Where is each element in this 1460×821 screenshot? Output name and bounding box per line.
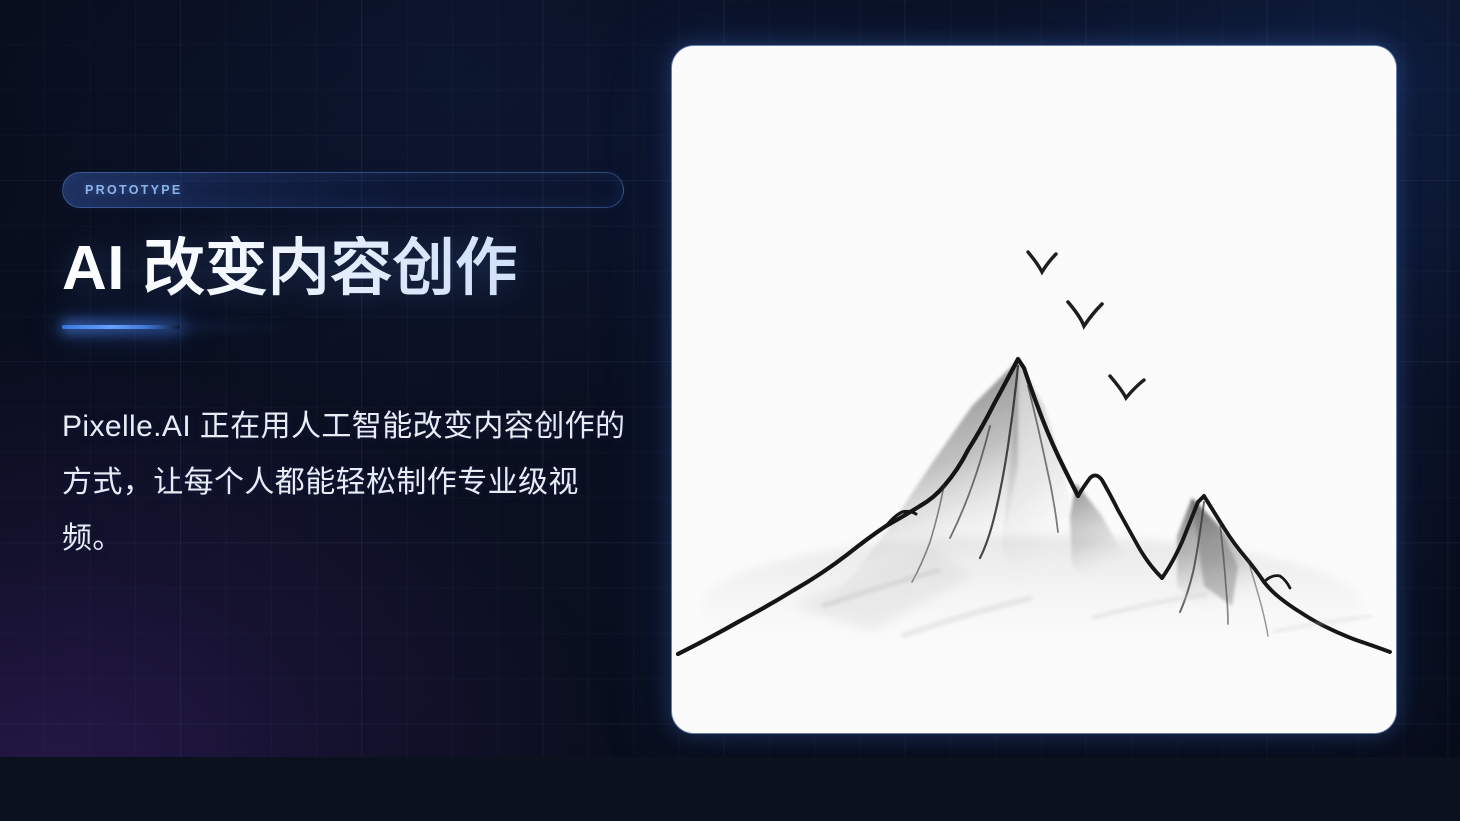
bottom-band: [0, 757, 1460, 821]
text-column: PROTOTYPE AI 改变内容创作 Pixelle.AI 正在用人工智能改变…: [62, 172, 642, 567]
mountain-sketch-illustration: [672, 46, 1396, 733]
prototype-badge-label: PROTOTYPE: [85, 183, 183, 197]
slide-body-text: Pixelle.AI 正在用人工智能改变内容创作的方式，让每个人都能轻松制作专业…: [62, 399, 632, 567]
slide-canvas: PROTOTYPE AI 改变内容创作 Pixelle.AI 正在用人工智能改变…: [0, 0, 1460, 757]
media-image-card: [672, 46, 1396, 733]
slide-headline: AI 改变内容创作: [62, 236, 642, 303]
slide-stage: PROTOTYPE AI 改变内容创作 Pixelle.AI 正在用人工智能改变…: [0, 0, 1460, 821]
prototype-badge: PROTOTYPE: [62, 172, 624, 208]
headline-accent-bar: [62, 325, 180, 329]
